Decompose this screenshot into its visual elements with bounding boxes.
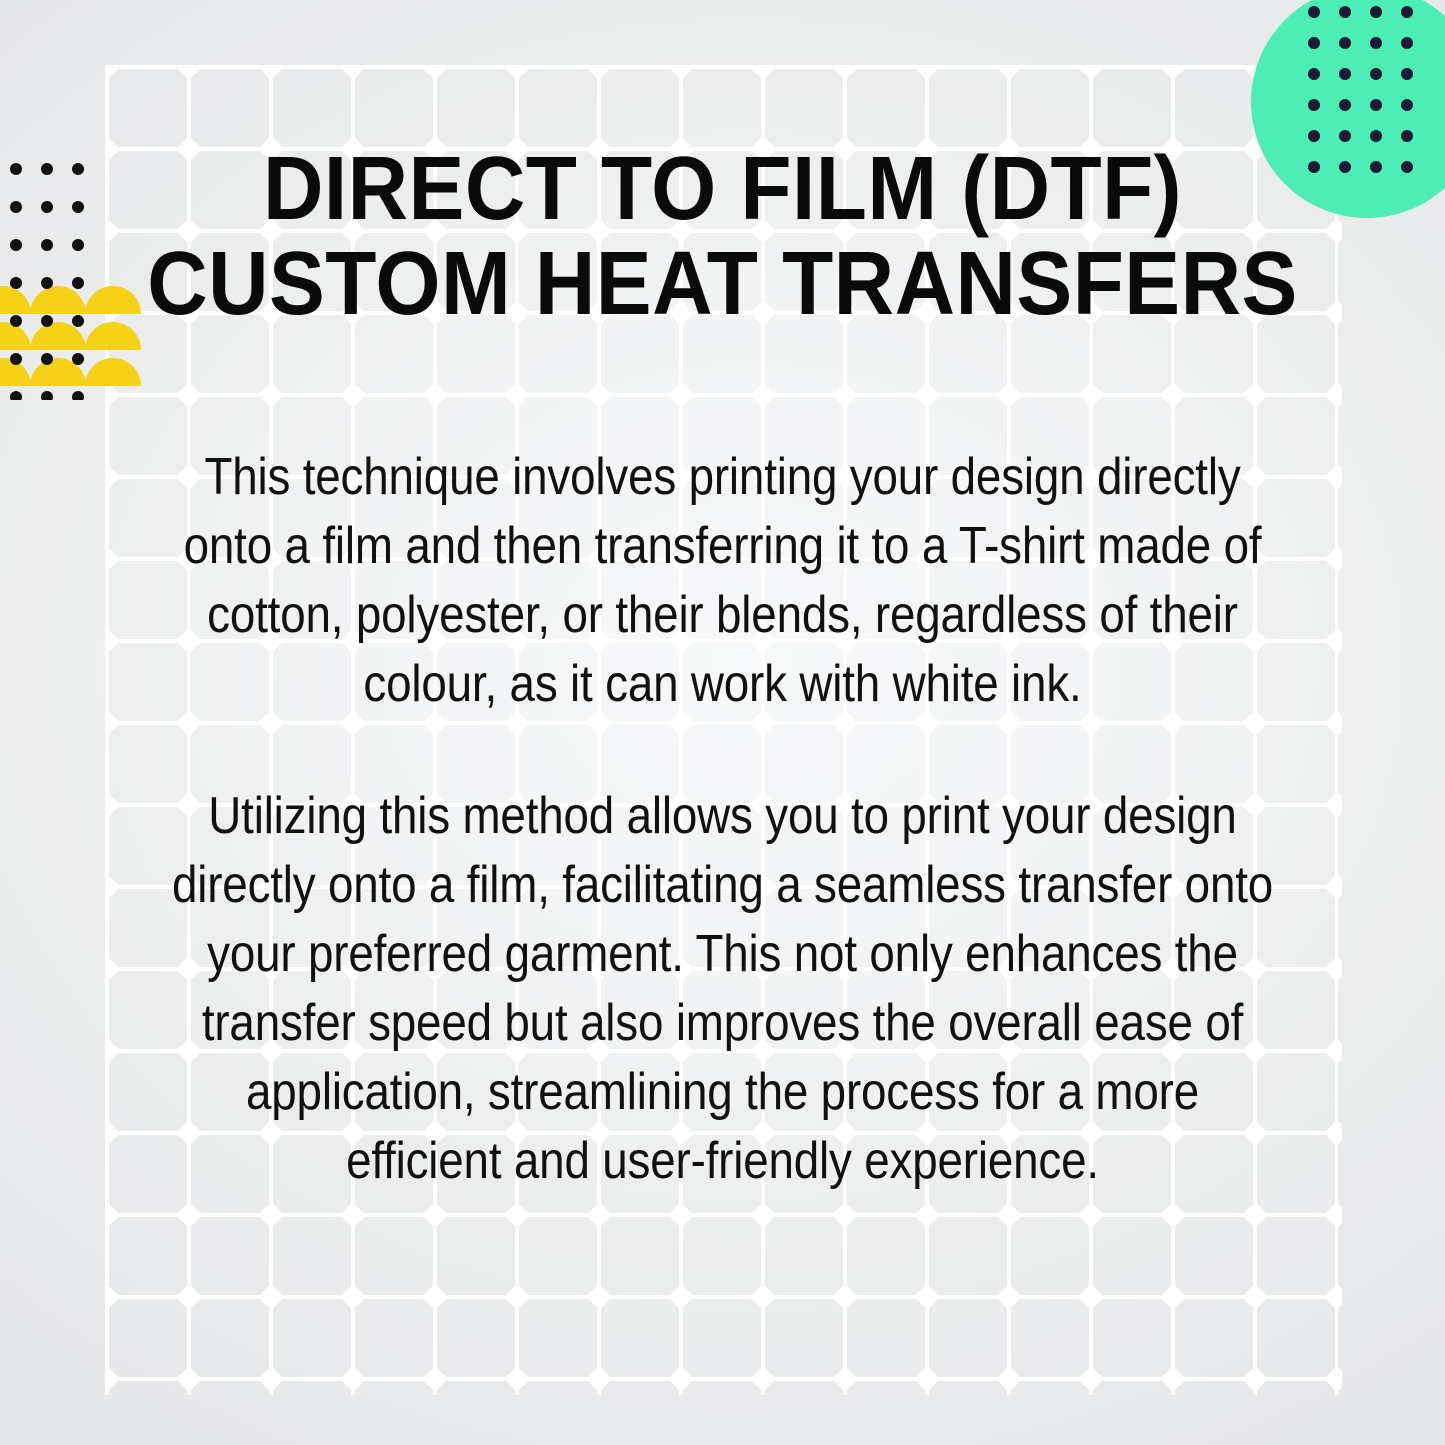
body-copy: This technique involves printing your de… — [88, 443, 1357, 1197]
paragraph-2: Utilizing this method allows you to prin… — [164, 782, 1281, 1197]
paragraph-1: This technique involves printing your de… — [164, 443, 1281, 720]
poster-canvas: DIRECT TO FILM (DTF) CUSTOM HEAT TRANSFE… — [0, 0, 1445, 1445]
poster-content: DIRECT TO FILM (DTF) CUSTOM HEAT TRANSFE… — [0, 0, 1445, 1445]
page-title: DIRECT TO FILM (DTF) CUSTOM HEAT TRANSFE… — [132, 0, 1312, 331]
